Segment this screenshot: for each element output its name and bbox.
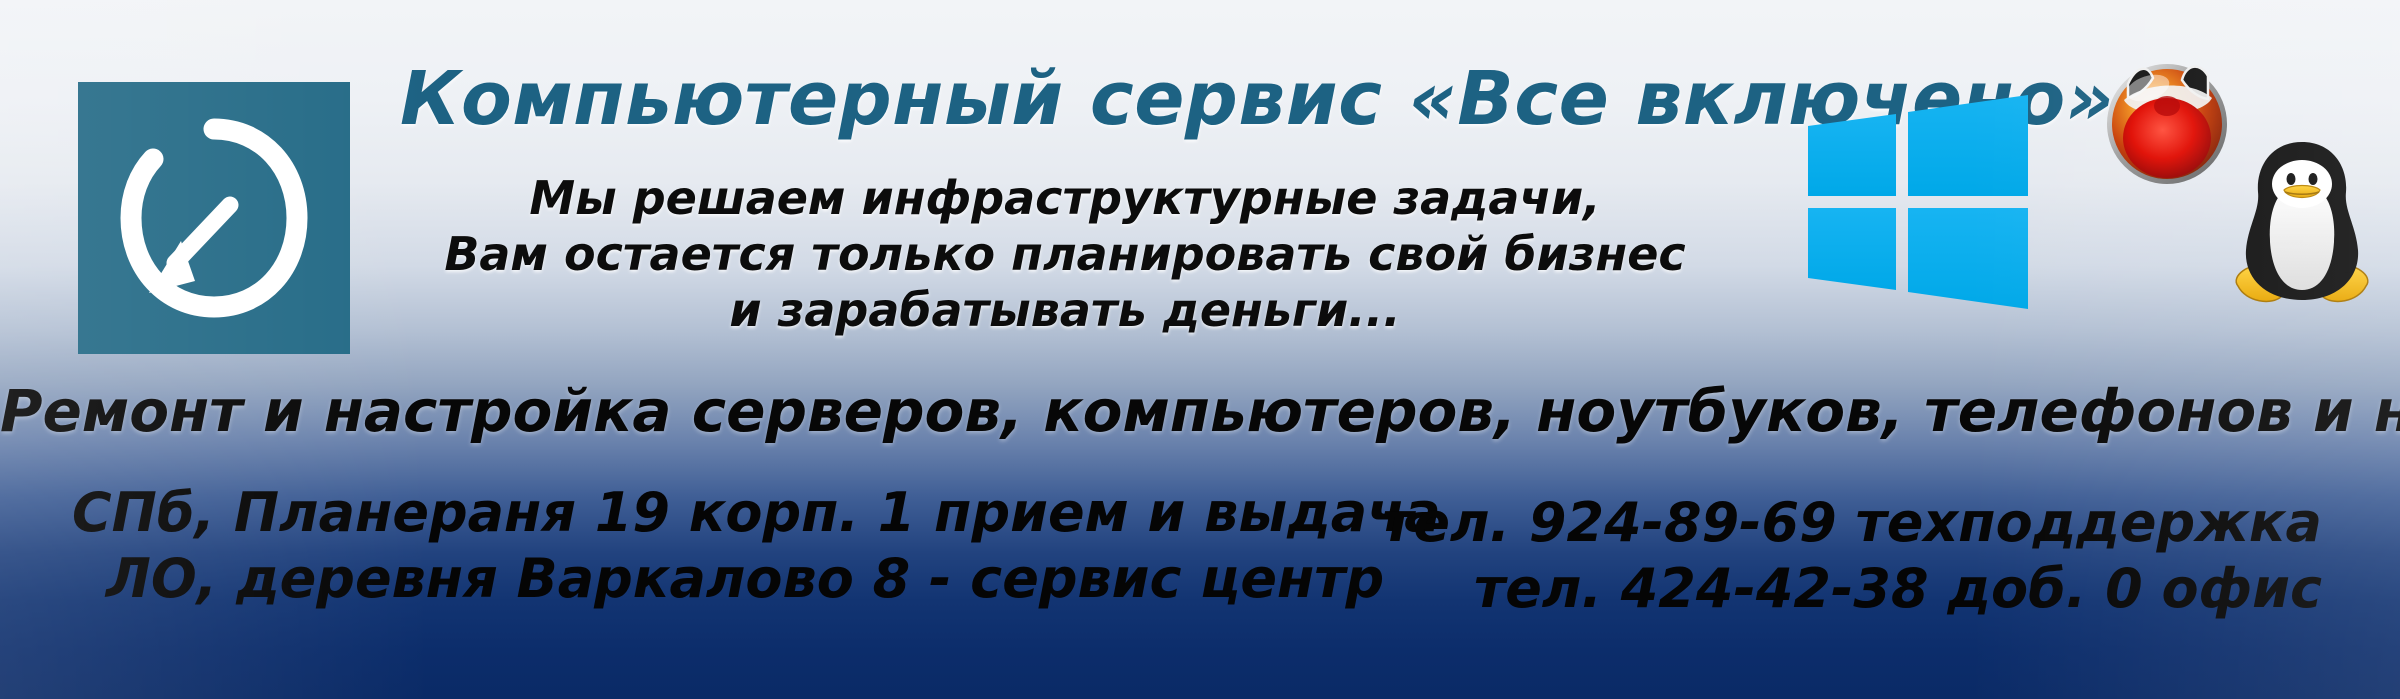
linux-tux-logo-icon — [2220, 136, 2385, 311]
phone-line-office: тел. 424-42-38 доб. 0 офис — [1382, 556, 2322, 622]
tagline-line-1: Мы решаем инфраструктурные задачи, — [400, 170, 1730, 226]
tagline-line-2: Вам остается только планировать свой биз… — [400, 226, 1730, 282]
tagline-line-3: и зарабатывать деньги... — [400, 282, 1730, 338]
address-block: СПб, Планераня 19 корп. 1 прием и выдача… — [72, 480, 1441, 612]
phone-block: тел. 924-89-69 техподдержка тел. 424-42-… — [1382, 490, 2322, 622]
address-line-2: ЛО, деревня Варкалово 8 - сервис центр — [72, 546, 1441, 612]
os-logos-group — [2100, 48, 2380, 323]
freebsd-beastie-logo-icon — [2100, 54, 2234, 188]
address-line-1: СПб, Планераня 19 корп. 1 прием и выдача — [72, 480, 1441, 546]
page-title: Компьютерный сервис «Все включено» — [400, 62, 1730, 136]
circular-refresh-arrow-icon — [109, 113, 319, 323]
services-line: Ремонт и настройка серверов, компьютеров… — [0, 378, 2400, 444]
company-banner: Компьютерный сервис «Все включено» Мы ре… — [0, 0, 2400, 699]
phone-line-support: тел. 924-89-69 техподдержка — [1382, 490, 2322, 556]
company-logo — [78, 82, 350, 354]
tagline-block: Мы решаем инфраструктурные задачи, Вам о… — [400, 170, 1730, 338]
windows-logo-icon — [1790, 78, 2040, 328]
